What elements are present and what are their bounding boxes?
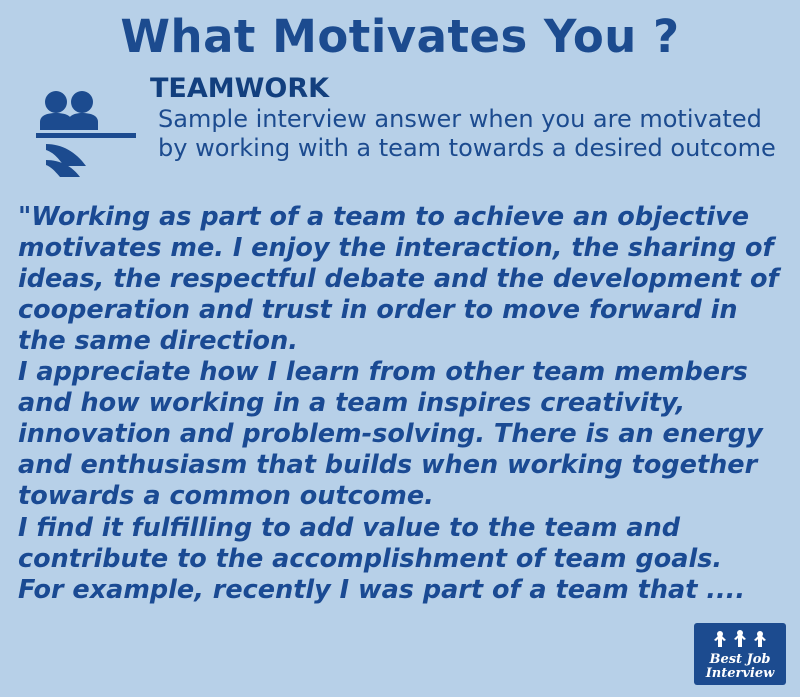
page-title: What Motivates You ? xyxy=(0,0,800,62)
answer-paragraph: For example, recently I was part of a te… xyxy=(18,575,786,606)
answer-body: "Working as part of a team to achieve an… xyxy=(0,194,800,606)
header-block: TEAMWORK Sample interview answer when yo… xyxy=(0,62,800,194)
subject-heading: TEAMWORK xyxy=(150,74,782,104)
logo-line-1: Best Job xyxy=(709,653,770,667)
poster: What Motivates You ? TEAMWORK Sample int… xyxy=(0,0,800,697)
logo-people-icon xyxy=(694,628,786,651)
subject-description: Sample interview answer when you are mot… xyxy=(150,105,782,164)
site-logo: Best Job Interview xyxy=(694,623,786,685)
answer-paragraph: "Working as part of a team to achieve an… xyxy=(18,202,786,358)
team-people-icon xyxy=(24,74,144,194)
header-text: TEAMWORK Sample interview answer when yo… xyxy=(144,74,782,164)
answer-paragraph: I appreciate how I learn from other team… xyxy=(18,357,786,513)
logo-line-2: Interview xyxy=(706,667,775,681)
answer-paragraph: I find it fulfilling to add value to the… xyxy=(18,513,786,575)
